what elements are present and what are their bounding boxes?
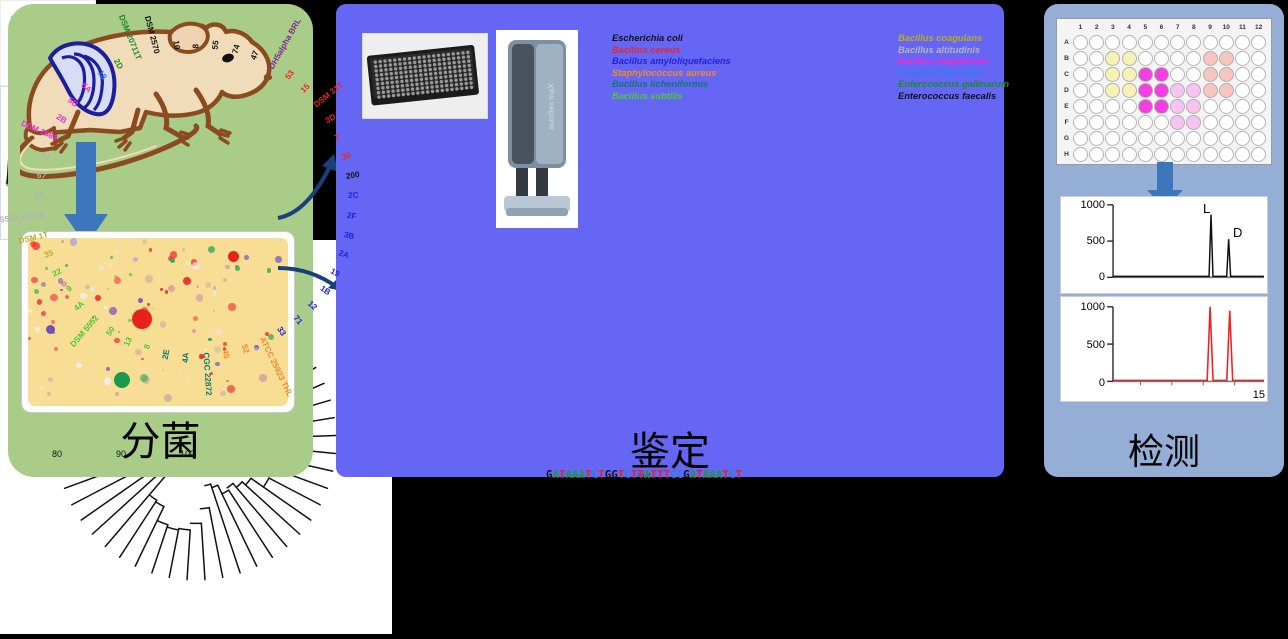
bacterial-colony: [160, 321, 166, 327]
plate-well-D6[interactable]: [1154, 83, 1169, 98]
plate-well-H9[interactable]: [1203, 147, 1218, 162]
bacterial-colony: [70, 238, 77, 245]
plate-well-H1[interactable]: [1073, 147, 1088, 162]
tree-branch: [72, 480, 119, 504]
tree-tip-label: 2F: [347, 211, 357, 221]
plate-well-G9[interactable]: [1203, 131, 1218, 146]
bacterial-colony: [140, 374, 148, 382]
bacterial-colony: [192, 329, 196, 333]
bacterial-colony: [268, 334, 274, 340]
bacterial-colony: [196, 294, 203, 301]
bacterial-colony: [129, 273, 132, 276]
tree-branch: [209, 508, 211, 520]
plate-well-A5[interactable]: [1138, 35, 1153, 50]
plate-well-C9[interactable]: [1203, 67, 1218, 82]
bacterial-colony: [170, 258, 175, 263]
plate-well-E2[interactable]: [1089, 99, 1104, 114]
plate-well-D11[interactable]: [1235, 83, 1250, 98]
bacterial-colony: [98, 265, 104, 271]
tree-tip-label: 2C: [348, 191, 359, 200]
tree-branch: [163, 525, 168, 540]
panel-isolation: 分菌: [8, 4, 313, 477]
plate-well-C3[interactable]: [1105, 67, 1120, 82]
agar-plate-surface: [28, 238, 288, 406]
bacterial-colony: [135, 349, 142, 356]
plate-well-H7[interactable]: [1170, 147, 1185, 162]
tree-tip-label: 60: [35, 191, 44, 200]
plate-well-C2[interactable]: [1089, 67, 1104, 82]
bacterial-colony-large: [228, 251, 239, 262]
xtick-15: 15: [1253, 389, 1265, 401]
plate-column-header: 2: [1089, 24, 1104, 31]
tree-arc: [222, 490, 229, 494]
tree-tip-label: 55: [211, 40, 221, 50]
legend-entry: Enterococcus faecalis: [898, 91, 1009, 103]
bacterial-colony: [61, 240, 64, 243]
bacterial-colony: [48, 377, 53, 382]
plate-row-header: G: [1062, 135, 1071, 142]
instrument-model-text: autoflex maX: [547, 83, 556, 130]
bacterial-colony: [147, 303, 150, 306]
bacterial-colony: [50, 294, 58, 302]
plate-well-B4[interactable]: [1122, 51, 1137, 66]
plate-well-G11[interactable]: [1235, 131, 1250, 146]
panel-identification-label: 鉴定: [336, 419, 1004, 477]
bacterial-colony: [208, 246, 215, 253]
legend-entry: Bacillus altitudinis: [898, 45, 1009, 57]
bacterial-colony: [225, 265, 229, 269]
bacterial-colony: [110, 256, 113, 259]
plate-well-B11[interactable]: [1235, 51, 1250, 66]
bacterial-colony: [60, 289, 62, 291]
tree-branch: [202, 530, 205, 580]
bacterial-colony: [95, 295, 101, 301]
plate-well-B1[interactable]: [1073, 51, 1088, 66]
plate-well-H12[interactable]: [1251, 147, 1266, 162]
ytick-0-top: 0: [1063, 271, 1105, 283]
agar-culture-plate: [22, 232, 294, 412]
plate-well-E10[interactable]: [1219, 99, 1234, 114]
plate-well-F7[interactable]: [1170, 115, 1185, 130]
tree-tip-label: 200: [345, 170, 360, 181]
bacterial-colony: [114, 338, 120, 344]
plate-well-C12[interactable]: [1251, 67, 1266, 82]
plate-well-C1[interactable]: [1073, 67, 1088, 82]
seq-tick-80: 80: [52, 449, 62, 459]
plate-well-F9[interactable]: [1203, 115, 1218, 130]
plate-column-header: 4: [1122, 24, 1137, 31]
plate-column-header: 10: [1219, 24, 1234, 31]
plate-well-G4[interactable]: [1122, 131, 1137, 146]
plate-well-G8[interactable]: [1186, 131, 1201, 146]
tree-arc: [157, 521, 168, 525]
plate-well-E1[interactable]: [1073, 99, 1088, 114]
plate-well-D2[interactable]: [1089, 83, 1104, 98]
plate-well-D7[interactable]: [1170, 83, 1185, 98]
plate-row-header: H: [1062, 151, 1071, 158]
bacterial-colony: [90, 287, 94, 291]
tree-branch: [81, 476, 145, 520]
plate-well-H11[interactable]: [1235, 147, 1250, 162]
ytick-0-bottom: 0: [1063, 377, 1105, 389]
plate-well-A2[interactable]: [1089, 35, 1104, 50]
plate-well-F2[interactable]: [1089, 115, 1104, 130]
tree-branch: [272, 529, 287, 547]
plate-grid: 123456789101112ABCDEFGH: [1060, 22, 1268, 161]
bacterial-colony: [223, 342, 227, 346]
bacterial-colony: [106, 367, 110, 371]
plate-well-A4[interactable]: [1122, 35, 1137, 50]
tree-tip-label: 3B: [343, 230, 355, 241]
bacterial-colony: [133, 257, 138, 262]
bacterial-colony: [142, 239, 147, 244]
plate-column-header: 1: [1073, 24, 1088, 31]
plate-column-header: 8: [1186, 24, 1201, 31]
plate-well-F4[interactable]: [1122, 115, 1137, 130]
plate-well-C6[interactable]: [1154, 67, 1169, 82]
plate-well-H8[interactable]: [1186, 147, 1201, 162]
seq-tick-90: 90: [116, 449, 126, 459]
plate-well-G1[interactable]: [1073, 131, 1088, 146]
plate-well-F1[interactable]: [1073, 115, 1088, 130]
bacterial-colony: [235, 266, 239, 270]
tree-branch: [276, 482, 320, 505]
legend-entry: Bacillus coagulans: [898, 33, 1009, 45]
bacterial-colony: [138, 298, 144, 304]
bacterial-colony: [215, 362, 219, 366]
plate-well-F8[interactable]: [1186, 115, 1201, 130]
bacterial-colony: [152, 308, 154, 310]
bacterial-colony: [54, 347, 58, 351]
peak-label-L-top: L: [1203, 201, 1210, 216]
ytick-1000-bottom: 1000: [1063, 301, 1105, 313]
bacterial-colony: [186, 261, 191, 266]
plate-well-A10[interactable]: [1219, 35, 1234, 50]
tree-branch: [278, 497, 311, 520]
plate-row-header: B: [1062, 55, 1071, 62]
tree-tip-label: 45: [221, 349, 232, 360]
plate-well-A3[interactable]: [1105, 35, 1120, 50]
bacterial-colony: [31, 277, 37, 283]
plate-well-B12[interactable]: [1251, 51, 1266, 66]
bacterial-colony: [164, 394, 171, 401]
bacterial-colony: [104, 306, 107, 309]
bacterial-colony: [226, 380, 229, 383]
plate-well-H3[interactable]: [1105, 147, 1120, 162]
plate-well-E11[interactable]: [1235, 99, 1250, 114]
peak-label-D-top: D: [1233, 225, 1242, 240]
bacterial-colony: [267, 268, 272, 273]
plate-well-E7[interactable]: [1170, 99, 1185, 114]
plate-well-E6[interactable]: [1154, 99, 1169, 114]
bacterial-colony: [37, 299, 42, 304]
plate-well-F11[interactable]: [1235, 115, 1250, 130]
bacterial-colony: [165, 290, 168, 293]
plate-well-B3[interactable]: [1105, 51, 1120, 66]
bacterial-colony: [204, 348, 207, 351]
plate-well-G10[interactable]: [1219, 131, 1234, 146]
plate-well-D10[interactable]: [1219, 83, 1234, 98]
plate-well-H4[interactable]: [1122, 147, 1137, 162]
plate-well-D3[interactable]: [1105, 83, 1120, 98]
bacterial-colony: [259, 374, 267, 382]
plate-column-header: 6: [1154, 24, 1169, 31]
plate-column-header: 12: [1251, 24, 1266, 31]
bacterial-colony-large: [132, 309, 152, 329]
chromatogram-standard: 1000 500 0 L D: [1060, 196, 1268, 294]
legend-entry: Bacillus amyloliquefaciens: [612, 56, 731, 68]
bacterial-colony: [41, 282, 46, 287]
plate-well-D8[interactable]: [1186, 83, 1201, 98]
tree-branch: [150, 500, 157, 511]
plate-well-H6[interactable]: [1154, 147, 1169, 162]
96-well-microplate[interactable]: 123456789101112ABCDEFGH: [1056, 18, 1272, 165]
bacterial-colony: [185, 378, 188, 381]
bacterial-colony: [28, 309, 32, 313]
plate-well-F5[interactable]: [1138, 115, 1153, 130]
bacterial-colony: [168, 285, 175, 292]
plate-well-B8[interactable]: [1186, 51, 1201, 66]
bacterial-colony: [162, 369, 164, 371]
tree-branch: [177, 530, 179, 539]
plate-well-D12[interactable]: [1251, 83, 1266, 98]
bacterial-colony: [213, 286, 216, 289]
bacterial-colony: [45, 267, 47, 269]
plate-well-A7[interactable]: [1170, 35, 1185, 50]
plate-well-B6[interactable]: [1154, 51, 1169, 66]
plate-well-C5[interactable]: [1138, 67, 1153, 82]
bacterial-colony: [34, 289, 39, 294]
bacterial-colony: [244, 255, 249, 260]
plate-well-G2[interactable]: [1089, 131, 1104, 146]
plate-well-C10[interactable]: [1219, 67, 1234, 82]
tree-branch: [253, 491, 300, 534]
plate-well-F6[interactable]: [1154, 115, 1169, 130]
tree-arc: [200, 508, 209, 509]
bacterial-colony: [114, 277, 121, 284]
legend-entry: Staphylococcus aureus: [612, 68, 731, 80]
bacterial-colony: [115, 251, 119, 255]
legend-entry: Bacillus cereus: [612, 45, 731, 57]
bacterial-colony: [85, 285, 89, 289]
bacterial-colony: [254, 347, 258, 351]
bacterial-colony: [208, 338, 211, 341]
bacterial-colony: [118, 331, 120, 333]
plate-well-E4[interactable]: [1122, 99, 1137, 114]
legend-entry: Enterococcus gallinarum: [898, 79, 1009, 91]
plate-row-header: A: [1062, 39, 1071, 46]
bacterial-colony: [209, 331, 212, 334]
plate-well-D1[interactable]: [1073, 83, 1088, 98]
bacterial-colony: [183, 277, 191, 285]
tree-branch: [152, 540, 163, 573]
bacterial-colony-large: [114, 372, 130, 388]
plate-well-F12[interactable]: [1251, 115, 1266, 130]
tree-branch: [187, 537, 190, 580]
bacterial-colony: [179, 371, 181, 373]
plate-well-G3[interactable]: [1105, 131, 1120, 146]
ytick-500-top: 500: [1063, 235, 1105, 247]
bacterial-colony: [51, 320, 55, 324]
plate-row-header: F: [1062, 119, 1071, 126]
plate-well-H10[interactable]: [1219, 147, 1234, 162]
plate-row-header: C: [1062, 71, 1071, 78]
plate-well-H2[interactable]: [1089, 147, 1104, 162]
tree-arc: [167, 527, 178, 530]
plate-column-header: 5: [1138, 24, 1153, 31]
tree-branch: [120, 511, 150, 557]
legend-left-column: Escherichia coliBacillus cereusBacillus …: [612, 33, 731, 103]
plate-row-header: D: [1062, 87, 1071, 94]
plate-well-A12[interactable]: [1251, 35, 1266, 50]
plate-well-B2[interactable]: [1089, 51, 1104, 66]
autoflex-max-instrument-photo: autoflex maX: [496, 30, 578, 228]
tree-tip-label: 2E: [161, 349, 172, 361]
tree-branch: [105, 530, 119, 547]
plate-well-B7[interactable]: [1170, 51, 1185, 66]
plate-well-B5[interactable]: [1138, 51, 1153, 66]
plate-well-B10[interactable]: [1219, 51, 1234, 66]
bacterial-colony: [160, 288, 163, 291]
bacterial-colony: [220, 391, 225, 396]
bacterial-colony: [107, 288, 109, 290]
bacterial-colony: [182, 248, 186, 252]
bacterial-colony: [141, 358, 144, 361]
plate-well-A1[interactable]: [1073, 35, 1088, 50]
plate-well-F10[interactable]: [1219, 115, 1234, 130]
plate-well-C11[interactable]: [1235, 67, 1250, 82]
tree-arc: [205, 484, 211, 486]
seq-tick-100: 100: [180, 449, 195, 459]
tree-tip-label: 4A: [181, 352, 191, 363]
bacterial-colony: [192, 262, 200, 270]
plate-well-G7[interactable]: [1170, 131, 1185, 146]
tree-branch: [313, 418, 334, 421]
bacterial-colony: [104, 377, 112, 385]
plate-well-C8[interactable]: [1186, 67, 1201, 82]
plate-well-A8[interactable]: [1186, 35, 1201, 50]
bacterial-colony: [40, 386, 43, 389]
bacterial-colony: [223, 278, 227, 282]
bacterial-colony: [115, 392, 119, 396]
legend-entry: Bacillus megaterium: [898, 56, 1009, 68]
bacterial-colony: [109, 307, 117, 315]
plate-well-A6[interactable]: [1154, 35, 1169, 50]
plate-well-C4[interactable]: [1122, 67, 1137, 82]
plate-column-header: 3: [1105, 24, 1120, 31]
plate-well-E3[interactable]: [1105, 99, 1120, 114]
tree-arc: [149, 495, 156, 501]
ytick-500-bottom: 500: [1063, 339, 1105, 351]
legend-entry: Bacillus licheniformis: [612, 79, 731, 91]
bacterial-colony: [196, 285, 199, 288]
legend-entry: Paenibacillus pueri: [898, 68, 1009, 80]
tree-tip-label: 8: [192, 44, 201, 49]
legend-entry: Escherichia coli: [612, 33, 731, 45]
bacterial-colony: [47, 392, 52, 397]
plate-column-header: 7: [1170, 24, 1185, 31]
bacterial-colony: [145, 275, 152, 282]
tree-branch: [211, 519, 222, 577]
panel-detection-label: 检测: [1044, 423, 1284, 475]
bacterial-colony: [108, 263, 112, 267]
plate-well-D5[interactable]: [1138, 83, 1153, 98]
tree-arc: [156, 502, 164, 507]
plate-well-E5[interactable]: [1138, 99, 1153, 114]
plate-well-E9[interactable]: [1203, 99, 1218, 114]
bacterial-colony: [80, 293, 87, 300]
plate-well-E12[interactable]: [1251, 99, 1266, 114]
plate-well-C7[interactable]: [1170, 67, 1185, 82]
plate-well-G12[interactable]: [1251, 131, 1266, 146]
plate-well-D4[interactable]: [1122, 83, 1137, 98]
bacterial-colony: [227, 385, 235, 393]
plate-well-G6[interactable]: [1154, 131, 1169, 146]
plate-well-D9[interactable]: [1203, 83, 1218, 98]
legend-entry: Bacillus subtilis: [612, 91, 731, 103]
maldi-target-plate-photo: [362, 33, 488, 119]
tree-arc: [212, 485, 218, 487]
legend-right-column: Bacillus coagulansBacillus altitudinisBa…: [898, 33, 1009, 103]
bacterial-colony: [149, 248, 152, 251]
plate-well-F3[interactable]: [1105, 115, 1120, 130]
bacterial-colony: [28, 337, 31, 340]
bacterial-colony: [213, 310, 215, 312]
tree-tip-label: 10: [171, 40, 181, 50]
bacterial-colony: [65, 264, 68, 267]
bacterial-colony: [76, 363, 82, 369]
tree-branch: [135, 540, 148, 566]
bacterial-colony: [193, 316, 199, 322]
tree-branch: [169, 539, 176, 577]
plate-row-header: E: [1062, 103, 1071, 110]
tree-branch: [229, 490, 233, 496]
plate-well-A11[interactable]: [1235, 35, 1250, 50]
bacterial-colony: [32, 242, 40, 250]
bacterial-colony: [215, 328, 222, 335]
tree-branch: [215, 498, 240, 573]
bacterial-colony: [35, 327, 40, 332]
bacterial-colony: [205, 282, 212, 289]
plate-column-header: 9: [1203, 24, 1218, 31]
chromatogram-sample: 1000 500 0 15: [1060, 296, 1268, 402]
plate-well-E8[interactable]: [1186, 99, 1201, 114]
bacterial-colony: [41, 311, 46, 316]
bacterial-colony: [228, 303, 236, 311]
figure-canvas: 分菌 autoflex maX: [0, 0, 1288, 483]
plate-well-A9[interactable]: [1203, 35, 1218, 50]
tree-arc: [179, 529, 190, 530]
plate-well-G5[interactable]: [1138, 131, 1153, 146]
ytick-1000-top: 1000: [1063, 199, 1105, 211]
plate-column-header: 11: [1235, 24, 1250, 31]
tree-branch: [246, 543, 257, 566]
bacterial-colony: [58, 278, 64, 284]
tree-tip-label: 67: [36, 170, 46, 180]
plate-well-B9[interactable]: [1203, 51, 1218, 66]
plate-well-H5[interactable]: [1138, 147, 1153, 162]
bacterial-colony: [212, 291, 217, 296]
tree-arc: [227, 483, 233, 487]
bacterial-colony: [65, 295, 69, 299]
